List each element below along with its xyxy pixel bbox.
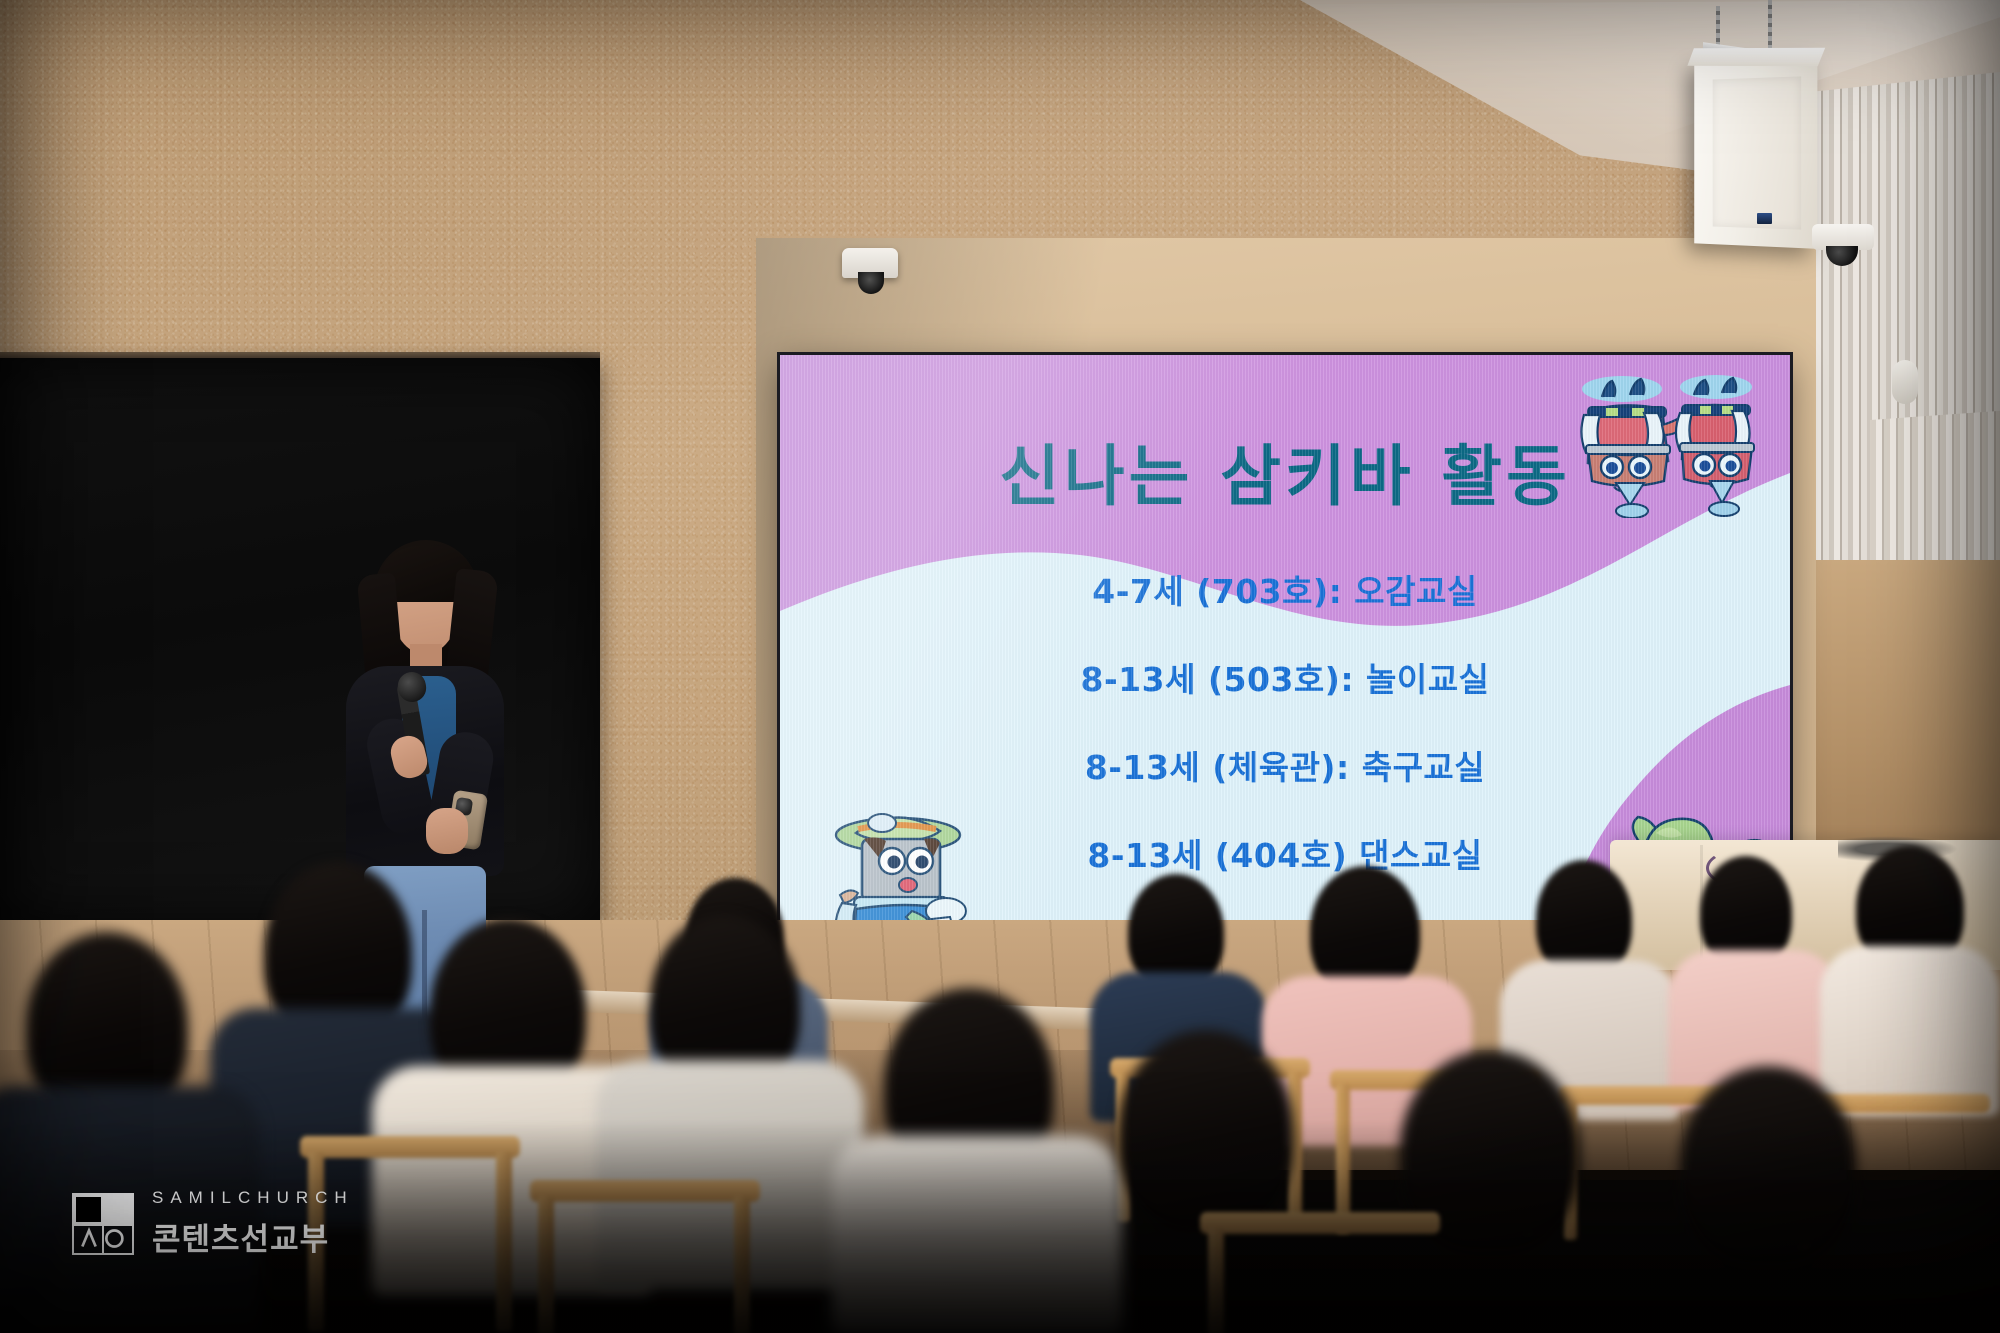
watermark-brand-en: SAMILCHURCH xyxy=(152,1188,354,1208)
slide-line-3: 8-13세 (체육관): 축구교실 xyxy=(780,741,1790,789)
speaker-top-face xyxy=(1687,48,1825,67)
watermark: SAMILCHURCH 콘텐츠선교부 xyxy=(72,1188,354,1259)
speaker-led-indicator xyxy=(1757,213,1772,224)
presenter-hand-right xyxy=(426,808,468,854)
slide-line-1: 4-7세 (703호): 오감교실 xyxy=(780,565,1790,613)
wall-sensor-icon xyxy=(1892,360,1918,404)
audience-body xyxy=(1820,946,2000,1116)
watermark-brand-ko: 콘텐츠선교부 xyxy=(152,1214,354,1259)
speaker-grill xyxy=(1713,76,1801,229)
samil-church-logo-icon xyxy=(72,1193,134,1255)
slide-line-2: 8-13세 (503호): 놀이교실 xyxy=(780,653,1790,701)
watermark-text: SAMILCHURCH 콘텐츠선교부 xyxy=(152,1188,354,1259)
photo-stage: 신나는 삼키바 활동 4-7세 (703호): 오감교실 8-13세 (503호… xyxy=(0,0,2000,1333)
character-pair-top-right-icon xyxy=(1554,363,1774,518)
